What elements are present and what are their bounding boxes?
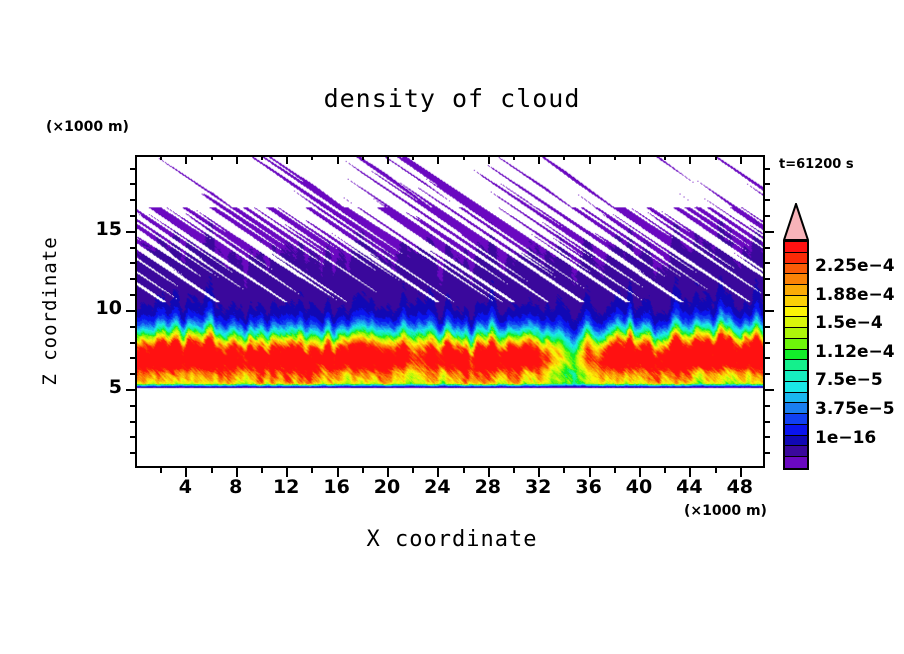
chart-title: density of cloud — [0, 84, 904, 113]
axis-tick — [765, 294, 770, 296]
colorbar-band — [785, 393, 807, 404]
axis-tick — [513, 468, 515, 473]
colorbar-band — [785, 285, 807, 296]
y-axis-unit-label: (×1000 m) — [46, 119, 129, 135]
axis-tick — [715, 155, 717, 160]
axis-tick — [130, 215, 135, 217]
axis-tick — [261, 468, 263, 473]
colorbar-band — [785, 446, 807, 457]
colorbar-band — [785, 264, 807, 275]
axis-tick — [765, 452, 770, 454]
y-tick-label: 10 — [76, 297, 122, 319]
axis-tick — [130, 262, 135, 264]
axis-tick — [185, 155, 187, 164]
axis-tick — [765, 310, 774, 312]
axis-tick — [765, 183, 770, 185]
colorbar-band — [785, 436, 807, 447]
time-annotation: t=61200 s — [779, 157, 854, 172]
colorbar-band — [785, 296, 807, 307]
axis-tick — [126, 389, 135, 391]
axis-tick — [639, 155, 641, 164]
axis-tick — [387, 155, 389, 164]
axis-tick — [261, 155, 263, 160]
colorbar-tick-label: 3.75e−5 — [815, 399, 895, 419]
axis-tick — [130, 342, 135, 344]
colorbar-band — [785, 414, 807, 425]
axis-tick — [765, 389, 774, 391]
colorbar-arrow-cap — [783, 203, 809, 241]
colorbar-band — [785, 371, 807, 382]
colorbar-band — [785, 317, 807, 328]
axis-tick — [614, 468, 616, 473]
axis-tick — [412, 155, 414, 160]
axis-tick — [765, 436, 770, 438]
axis-tick — [765, 231, 774, 233]
axis-tick — [130, 357, 135, 359]
colorbar-band — [785, 307, 807, 318]
axis-tick — [130, 278, 135, 280]
colorbar-band — [785, 425, 807, 436]
axis-tick — [563, 468, 565, 473]
axis-tick — [765, 405, 770, 407]
colorbar-band — [785, 360, 807, 371]
colorbar-tick-label: 1.5e−4 — [815, 313, 883, 333]
colorbar-band — [785, 457, 807, 468]
axis-tick — [160, 155, 162, 160]
axis-tick — [513, 155, 515, 160]
colorbar-tick-label: 1.88e−4 — [815, 285, 895, 305]
colorbar-band — [785, 339, 807, 350]
axis-tick — [765, 421, 770, 423]
axis-tick — [311, 468, 313, 473]
axis-tick — [664, 468, 666, 473]
axis-tick — [126, 231, 135, 233]
axis-tick — [130, 436, 135, 438]
axis-tick — [211, 155, 213, 160]
axis-tick — [130, 168, 135, 170]
axis-tick — [488, 155, 490, 164]
colorbar-tick-label: 2.25e−4 — [815, 256, 895, 276]
colorbar-tick-label: 1.12e−4 — [815, 342, 895, 362]
axis-tick — [130, 326, 135, 328]
axis-tick — [765, 278, 770, 280]
x-axis-unit-label: (×1000 m) — [684, 503, 767, 519]
axis-tick — [362, 468, 364, 473]
axis-tick — [614, 155, 616, 160]
colorbar-band — [785, 328, 807, 339]
colorbar-tick-label: 7.5e−5 — [815, 370, 883, 390]
axis-tick — [236, 155, 238, 164]
axis-tick-layer — [135, 155, 765, 468]
y-tick-label: 15 — [76, 218, 122, 240]
axis-tick — [311, 155, 313, 160]
axis-tick — [589, 155, 591, 164]
axis-tick — [130, 452, 135, 454]
colorbar-band — [785, 403, 807, 414]
axis-tick — [130, 421, 135, 423]
axis-tick — [765, 357, 770, 359]
axis-tick — [765, 373, 770, 375]
y-tick-label: 5 — [76, 376, 122, 398]
axis-tick — [286, 155, 288, 164]
axis-tick — [130, 405, 135, 407]
axis-tick — [689, 155, 691, 164]
axis-tick — [463, 468, 465, 473]
axis-tick — [765, 326, 770, 328]
axis-tick — [765, 247, 770, 249]
axis-tick — [412, 468, 414, 473]
x-axis-label: X coordinate — [0, 527, 904, 552]
colorbar-band — [785, 253, 807, 264]
axis-tick — [130, 373, 135, 375]
axis-tick — [664, 155, 666, 160]
axis-tick — [130, 247, 135, 249]
axis-tick — [337, 155, 339, 164]
axis-tick — [765, 342, 770, 344]
axis-tick — [563, 155, 565, 160]
colorbar-band — [785, 350, 807, 361]
axis-tick — [130, 199, 135, 201]
colorbar-tick-label: 1e−16 — [815, 428, 876, 448]
axis-tick — [765, 215, 770, 217]
axis-tick — [160, 468, 162, 473]
axis-tick — [538, 155, 540, 164]
axis-tick — [362, 155, 364, 160]
axis-tick — [126, 310, 135, 312]
x-tick-label: 48 — [710, 476, 770, 498]
colorbar-band — [785, 242, 807, 253]
axis-tick — [765, 262, 770, 264]
y-axis-label: Z coordinate — [39, 231, 61, 391]
axis-tick — [765, 199, 770, 201]
colorbar-band — [785, 382, 807, 393]
axis-tick — [740, 155, 742, 164]
axis-tick — [437, 155, 439, 164]
colorbar-band — [785, 274, 807, 285]
axis-tick — [715, 468, 717, 473]
axis-tick — [130, 183, 135, 185]
axis-tick — [463, 155, 465, 160]
colorbar — [783, 240, 809, 470]
axis-tick — [130, 294, 135, 296]
axis-tick — [211, 468, 213, 473]
axis-tick — [765, 168, 770, 170]
